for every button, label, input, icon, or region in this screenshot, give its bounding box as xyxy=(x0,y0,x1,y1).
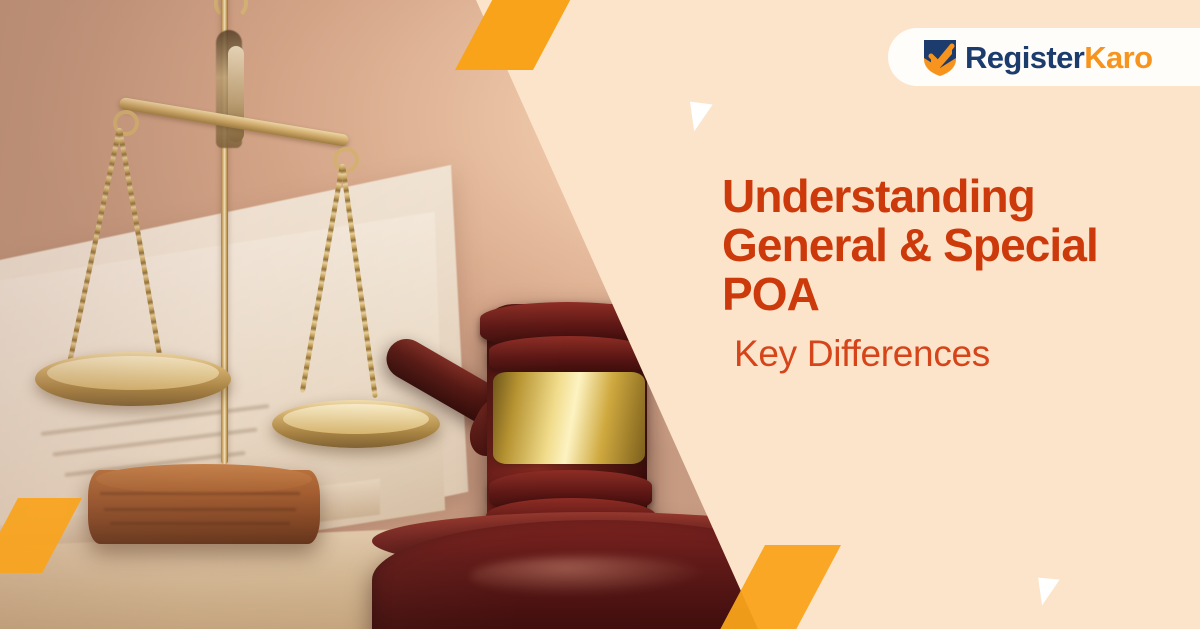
page-title: Understanding General & Special POA xyxy=(722,172,1192,320)
headline-line-1: Understanding xyxy=(722,170,1035,222)
headline-block: Understanding General & Special POA Key … xyxy=(722,172,1192,374)
white-triangle-bottom-icon xyxy=(1038,575,1063,606)
promo-banner: RegisterKaro Understanding General & Spe… xyxy=(0,0,1200,629)
headline-line-3: POA xyxy=(722,268,819,320)
logo-wordmark: RegisterKaro xyxy=(965,42,1152,73)
logo-word-register: Register xyxy=(965,40,1084,75)
registerkaro-logo[interactable]: RegisterKaro xyxy=(888,28,1200,86)
headline-line-2: General & Special xyxy=(722,219,1098,271)
white-triangle-top-icon xyxy=(690,99,716,132)
shield-check-icon xyxy=(922,37,958,77)
logo-word-karo: Karo xyxy=(1084,40,1152,75)
subheading: Key Differences xyxy=(734,334,1192,375)
